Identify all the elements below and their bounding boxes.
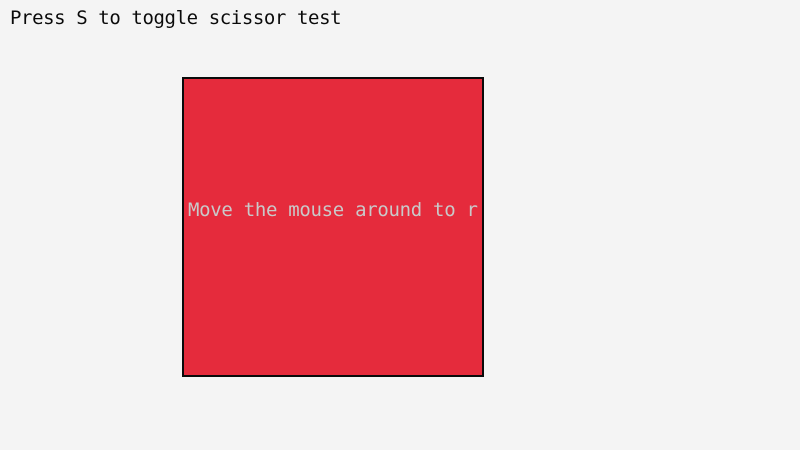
scissor-test-rect[interactable]: Move the mouse around to r (182, 77, 484, 377)
scissor-clipped-label: Move the mouse around to r (188, 199, 484, 221)
scissor-toggle-hint: Press S to toggle scissor test (10, 6, 341, 30)
app-canvas: Press S to toggle scissor test Move the … (0, 0, 800, 450)
